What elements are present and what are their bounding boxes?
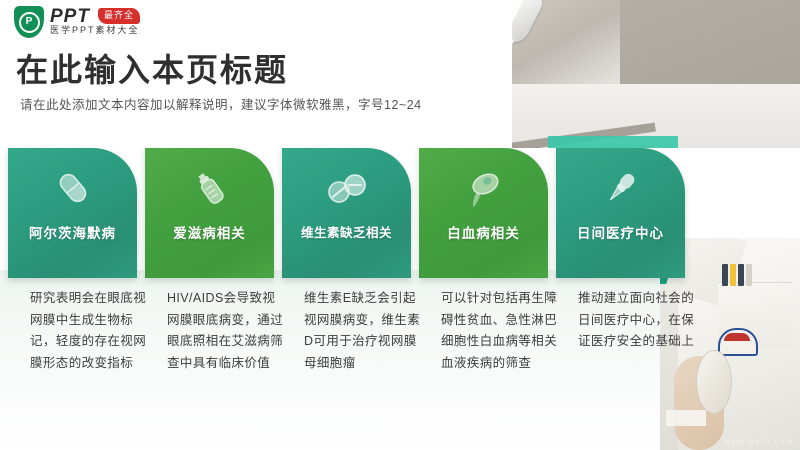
pen-icon: [722, 264, 728, 286]
description-text: 推动建立面向社会的日间医疗中心，在保证医疗安全的基础上: [578, 288, 696, 353]
logo-wordmark: PPT: [50, 7, 90, 26]
pen-icon: [730, 264, 736, 286]
logo-tagline: 医学PPT素材大全: [50, 26, 140, 35]
card-label: 维生素缺乏相关: [282, 222, 411, 241]
card-label: 阿尔茨海默病: [8, 222, 137, 242]
shield-letter: P: [19, 12, 40, 33]
two-tablets-icon: [282, 164, 411, 212]
pen-icon: [746, 264, 752, 286]
brand-logo: P PPT 最齐全 医学PPT素材大全: [14, 4, 174, 40]
watermark: www.pptn.com: [724, 437, 794, 446]
description-text: 可以针对包括再生障碍性贫血、急性淋巴细胞性白血病等相关血液疾病的筛查: [441, 288, 559, 374]
pen-icon: [738, 264, 744, 286]
dropper-icon: [556, 164, 685, 212]
category-card-leukemia[interactable]: 白血病相关: [419, 148, 548, 278]
description-text: HIV/AIDS会导致视网膜眼底病变，通过眼底照相在艾滋病筛查中具有临床价值: [167, 288, 285, 374]
category-card-day-center[interactable]: 日间医疗中心: [556, 148, 685, 278]
page-subtitle: 请在此处添加文本内容加以解释说明，建议字体微软雅黑，字号12~24: [20, 98, 422, 113]
hospital-badge-icon: [718, 328, 758, 356]
page-title: 在此输入本页标题: [16, 53, 288, 88]
pipette-photo: [512, 0, 800, 148]
pipette-bulb: [512, 0, 546, 48]
capsule-pill-icon: [8, 164, 137, 212]
description-text: 维生素E缺乏会引起视网膜病变，维生素D可用于治疗视网膜母细胞瘤: [304, 288, 422, 374]
category-card-alzheimer[interactable]: 阿尔茨海默病: [8, 148, 137, 278]
photo-wall: [620, 0, 800, 86]
category-card-row: 阿尔茨海默病 爱滋病相关: [8, 148, 700, 278]
baby-bottle-icon: [145, 164, 274, 212]
description-text: 研究表明会在眼底视网膜中生成生物标记，轻度的存在视网膜形态的改变指标: [30, 288, 148, 374]
category-card-aids[interactable]: 爱滋病相关: [145, 148, 274, 278]
card-label: 日间医疗中心: [556, 222, 685, 242]
shield-icon: P: [14, 6, 44, 38]
blood-cell-icon: [419, 164, 548, 212]
logo-badge: 最齐全: [98, 8, 140, 24]
card-label: 白血病相关: [419, 222, 548, 242]
description-column-row: 研究表明会在眼底视网膜中生成生物标记，轻度的存在视网膜形态的改变指标 HIV/A…: [8, 288, 708, 428]
slide-canvas: www.pptn.com P PPT 最齐全 医学PPT素材大全 在此输入本页标…: [0, 0, 800, 450]
card-label: 爱滋病相关: [145, 222, 274, 242]
category-card-vitamin[interactable]: 维生素缺乏相关: [282, 148, 411, 278]
photo-green-strip: [548, 136, 678, 148]
